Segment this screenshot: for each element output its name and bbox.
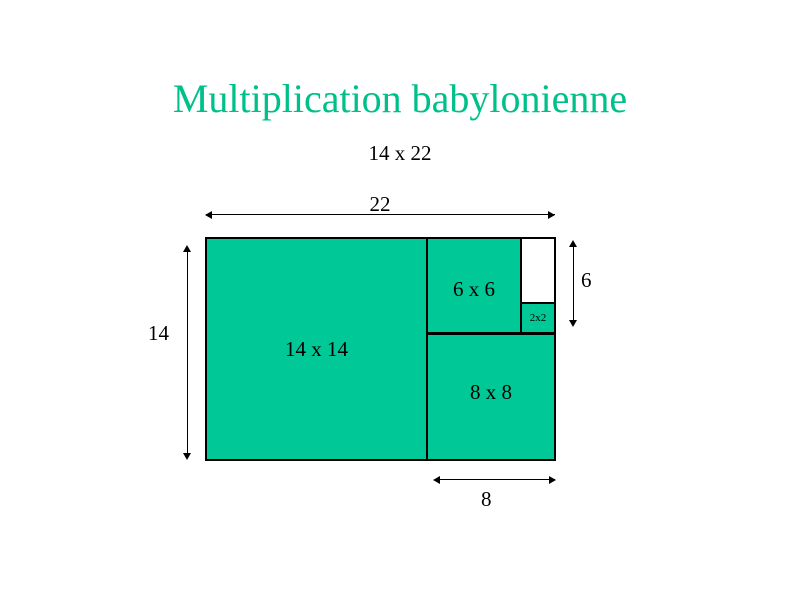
arrow-left-icon xyxy=(433,476,440,484)
block-8x8-label: 8 x 8 xyxy=(470,380,512,405)
dimension-label-22: 22 xyxy=(0,192,780,216)
block-8x8: 8 x 8 xyxy=(426,333,556,461)
block-2x2-label: 2x2 xyxy=(530,312,547,324)
block-empty-remainder xyxy=(520,237,556,304)
arrow-up-icon xyxy=(183,245,191,252)
block-14x14-label: 14 x 14 xyxy=(285,337,348,362)
block-2x2: 2x2 xyxy=(520,302,556,334)
arrow-down-icon xyxy=(569,320,577,327)
arrow-right-icon xyxy=(549,476,556,484)
block-6x6-label: 6 x 6 xyxy=(453,277,495,302)
slide-canvas: Multiplication babylonienne 14 x 22 14 x… xyxy=(0,0,800,600)
dimension-line-8 xyxy=(436,479,555,480)
dimension-label-6: 6 xyxy=(581,268,592,292)
arrow-down-icon xyxy=(183,453,191,460)
dimension-label-14: 14 xyxy=(148,321,169,345)
dimension-line-6 xyxy=(573,243,574,325)
multiplication-diagram: 14 x 14 6 x 6 2x2 8 x 8 22 14 6 xyxy=(0,0,800,600)
block-6x6: 6 x 6 xyxy=(426,237,522,334)
arrow-up-icon xyxy=(569,240,577,247)
block-14x14: 14 x 14 xyxy=(205,237,428,461)
dimension-label-8: 8 xyxy=(481,487,492,511)
dimension-line-14 xyxy=(187,248,188,458)
